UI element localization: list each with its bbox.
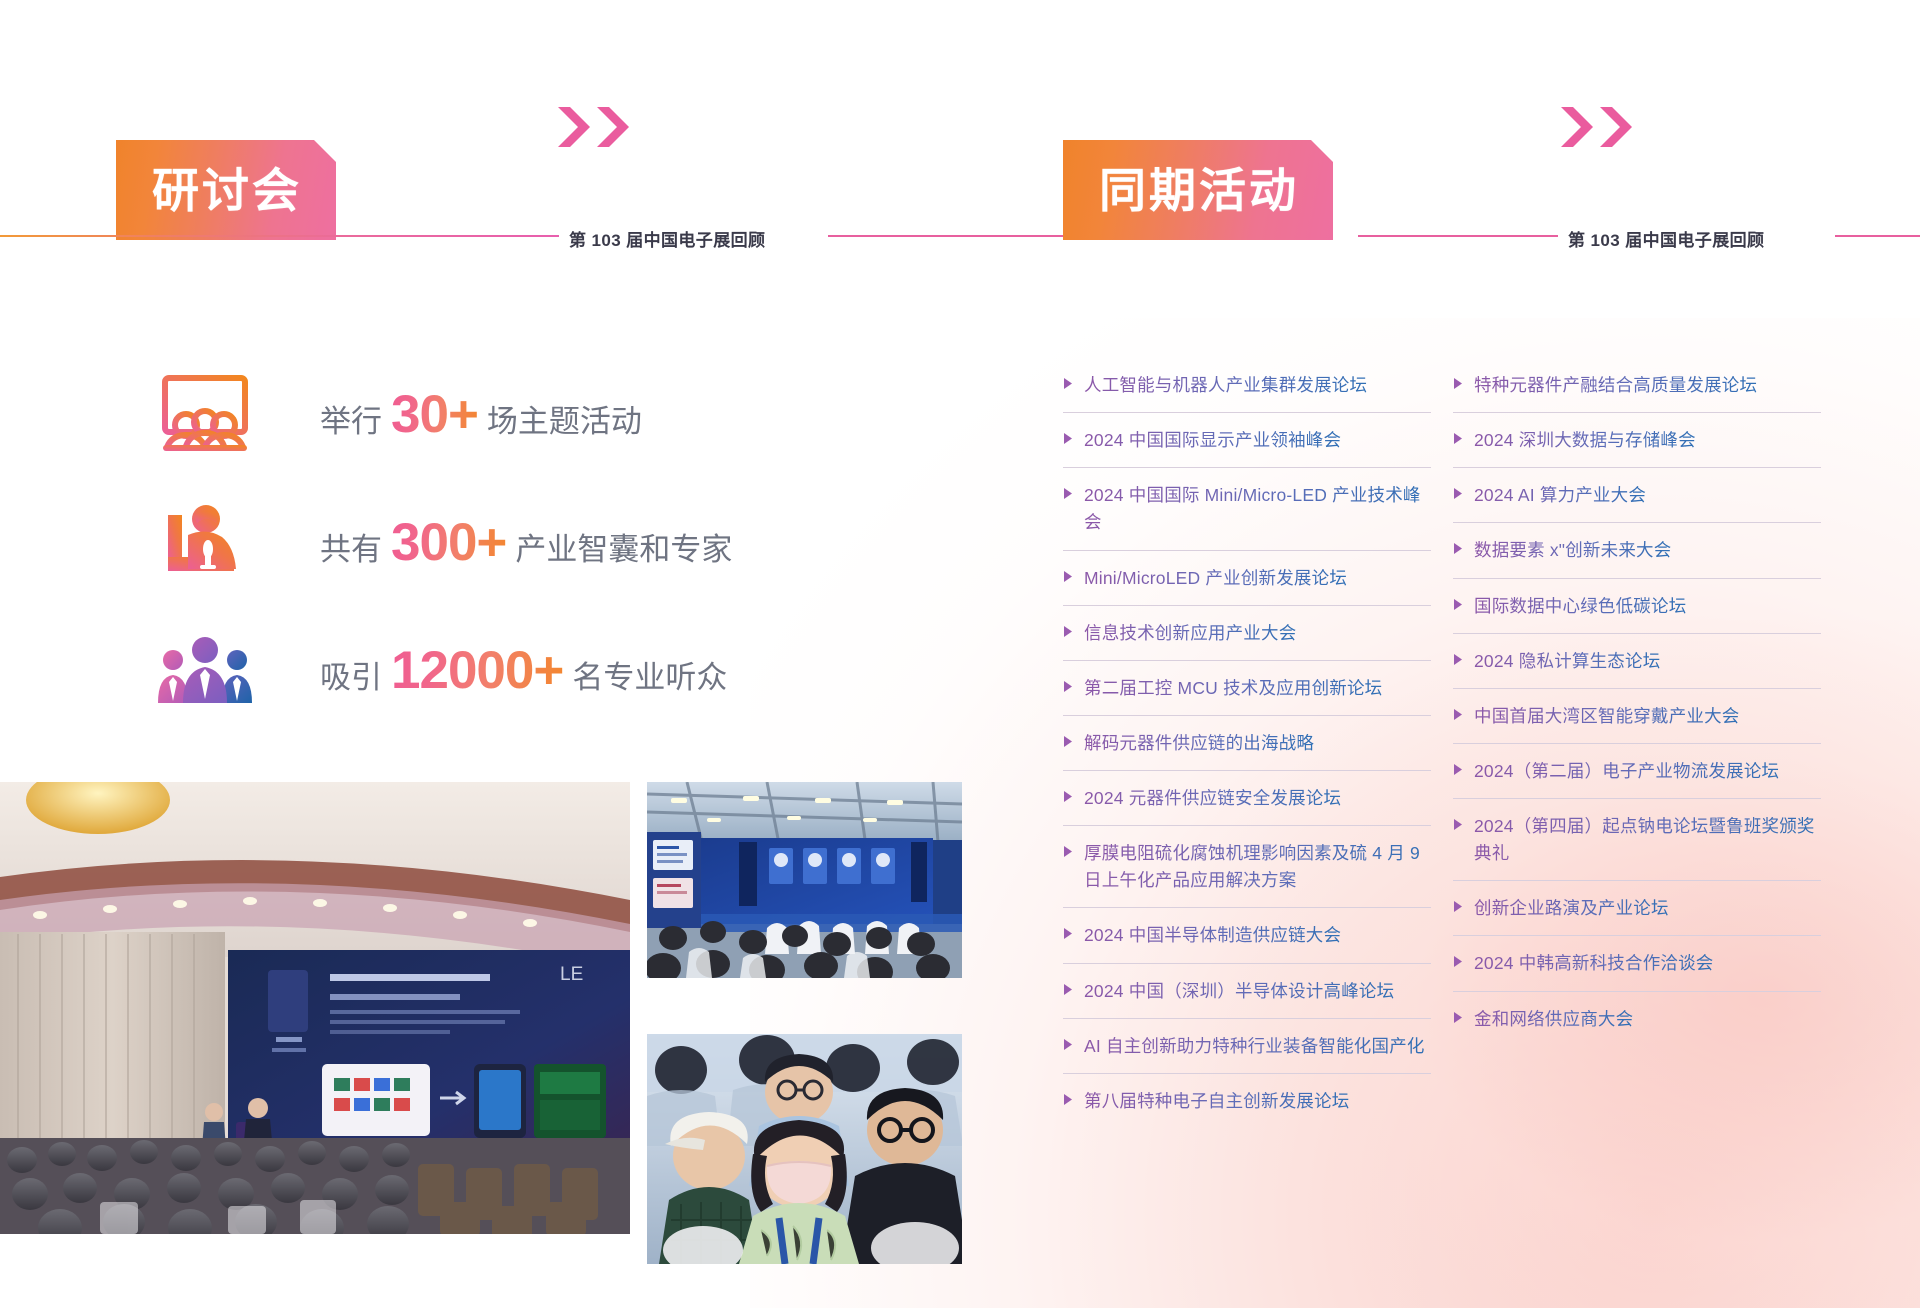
list-item[interactable]: 第八届特种电子自主创新发展论坛 <box>1063 1074 1431 1128</box>
stat-text: 吸引 12000+ 名专业听众 <box>320 644 727 697</box>
speaker-raised-hand-icon <box>150 498 260 586</box>
triangle-right-icon <box>1453 653 1463 671</box>
stat-suffix: 产业智囊和专家 <box>515 524 732 569</box>
triangle-right-icon <box>1453 487 1463 505</box>
section-badge-label: 同期活动 <box>1099 167 1299 214</box>
list-item[interactable]: 人工智能与机器人产业集群发展论坛 <box>1063 358 1431 413</box>
header-rule-right <box>828 235 1072 237</box>
header-rule-right <box>1835 235 1920 237</box>
double-chevron-right-icon <box>1559 105 1632 149</box>
triangle-right-icon <box>1453 432 1463 450</box>
audience-closeup-photo <box>647 1034 962 1264</box>
list-item[interactable]: 2024 元器件供应链安全发展论坛 <box>1063 771 1431 826</box>
stat-number: 12000+ <box>391 644 563 697</box>
triangle-right-icon <box>1063 487 1073 505</box>
section-subtitle-seminar: 第 103 届中国电子展回顾 <box>559 226 775 251</box>
stat-prefix: 吸引 <box>320 652 382 697</box>
double-chevron-right-icon <box>556 105 629 149</box>
stat-text: 举行 30+ 场主题活动 <box>320 388 642 441</box>
stat-prefix: 举行 <box>320 396 382 441</box>
triangle-right-icon <box>1453 377 1463 395</box>
list-item[interactable]: 金和网络供应商大会 <box>1453 992 1821 1046</box>
triangle-right-icon <box>1453 763 1463 781</box>
list-item[interactable]: 创新企业路演及产业论坛 <box>1453 881 1821 936</box>
list-item[interactable]: 2024（第二届）电子产业物流发展论坛 <box>1453 744 1821 799</box>
triangle-right-icon <box>1063 432 1073 450</box>
section-header-seminar: 研讨会 第 103 届中国电子展回顾 <box>116 105 956 305</box>
triangle-right-icon <box>1063 845 1073 863</box>
list-item[interactable]: 厚膜电阻硫化腐蚀机理影响因素及硫 4 月 9 日上午化产品应用解决方案 <box>1063 826 1431 908</box>
list-item[interactable]: 2024 中国国际显示产业领袖峰会 <box>1063 413 1431 468</box>
triangle-right-icon <box>1063 1093 1073 1111</box>
list-item[interactable]: 2024 深圳大数据与存储峰会 <box>1453 413 1821 468</box>
list-item[interactable]: 2024 中国国际 Mini/Micro-LED 产业技术峰会 <box>1063 468 1431 550</box>
triangle-right-icon <box>1063 377 1073 395</box>
triangle-right-icon <box>1063 1038 1073 1056</box>
list-item[interactable]: 2024 隐私计算生态论坛 <box>1453 634 1821 689</box>
section-subtitle-concurrent-events: 第 103 届中国电子展回顾 <box>1558 226 1774 251</box>
triangle-right-icon <box>1453 542 1463 560</box>
section-header-concurrent-events: 同期活动 第 103 届中国电子展回顾 <box>1063 105 1920 305</box>
list-item[interactable]: 2024 中国半导体制造供应链大会 <box>1063 908 1431 963</box>
stat-row: 吸引 12000+ 名专业听众 <box>150 606 732 734</box>
section-badge-concurrent-events: 同期活动 <box>1063 140 1333 240</box>
triangle-right-icon <box>1063 790 1073 808</box>
list-item[interactable]: Mini/MicroLED 产业创新发展论坛 <box>1063 551 1431 606</box>
list-item[interactable]: 2024 AI 算力产业大会 <box>1453 468 1821 523</box>
triangle-right-icon <box>1453 900 1463 918</box>
poster-page: 研讨会 第 103 届中国电子展回顾 同期活动 第 103 届中国电子展回顾 <box>0 0 1920 1308</box>
list-item[interactable]: 特种元器件产融结合高质量发展论坛 <box>1453 358 1821 413</box>
triangle-right-icon <box>1063 680 1073 698</box>
triangle-right-icon <box>1063 570 1073 588</box>
three-people-group-icon <box>150 626 260 714</box>
stat-suffix: 名专业听众 <box>572 652 727 697</box>
triangle-right-icon <box>1453 955 1463 973</box>
list-item[interactable]: 中国首届大湾区智能穿戴产业大会 <box>1453 689 1821 744</box>
presentation-audience-icon <box>150 370 260 458</box>
triangle-right-icon <box>1063 983 1073 1001</box>
list-item[interactable]: AI 自主创新助力特种行业装备智能化国产化 <box>1063 1019 1431 1074</box>
list-item[interactable]: 2024 中韩高新科技合作洽谈会 <box>1453 936 1821 991</box>
list-item[interactable]: 国际数据中心绿色低碳论坛 <box>1453 579 1821 634</box>
stat-number: 30+ <box>391 388 478 441</box>
triangle-right-icon <box>1453 708 1463 726</box>
stat-number: 300+ <box>391 516 506 569</box>
section-badge-label: 研讨会 <box>152 167 302 214</box>
list-item[interactable]: 第二届工控 MCU 技术及应用创新论坛 <box>1063 661 1431 716</box>
header-rule-left <box>0 235 560 237</box>
list-item[interactable]: 信息技术创新应用产业大会 <box>1063 606 1431 661</box>
stat-text: 共有 300+ 产业智囊和专家 <box>320 516 732 569</box>
triangle-right-icon <box>1063 625 1073 643</box>
triangle-right-icon <box>1453 818 1463 836</box>
stat-row: 举行 30+ 场主题活动 <box>150 350 732 478</box>
conference-hall-photo: LE <box>0 782 630 1234</box>
triangle-right-icon <box>1453 598 1463 616</box>
exhibition-forum-photo <box>647 782 962 978</box>
activities-column-right: 特种元器件产融结合高质量发展论坛 2024 深圳大数据与存储峰会 2024 AI… <box>1453 358 1821 1128</box>
triangle-right-icon <box>1063 735 1073 753</box>
statistics-list: 举行 30+ 场主题活动 <box>150 350 732 734</box>
stat-row: 共有 300+ 产业智囊和专家 <box>150 478 732 606</box>
activities-lists: 人工智能与机器人产业集群发展论坛 2024 中国国际显示产业领袖峰会 2024 … <box>1063 358 1821 1128</box>
triangle-right-icon <box>1453 1011 1463 1029</box>
stat-prefix: 共有 <box>320 524 382 569</box>
activities-column-left: 人工智能与机器人产业集群发展论坛 2024 中国国际显示产业领袖峰会 2024 … <box>1063 358 1431 1128</box>
list-item[interactable]: 2024（第四届）起点钠电论坛暨鲁班奖颁奖典礼 <box>1453 799 1821 881</box>
list-item[interactable]: 2024 中国（深圳）半导体设计高峰论坛 <box>1063 964 1431 1019</box>
svg-text:LE: LE <box>560 964 583 985</box>
triangle-right-icon <box>1063 927 1073 945</box>
list-item[interactable]: 解码元器件供应链的出海战略 <box>1063 716 1431 771</box>
list-item[interactable]: 数据要素 x"创新未来大会 <box>1453 523 1821 578</box>
section-badge-seminar: 研讨会 <box>116 140 336 240</box>
stat-suffix: 场主题活动 <box>487 396 642 441</box>
